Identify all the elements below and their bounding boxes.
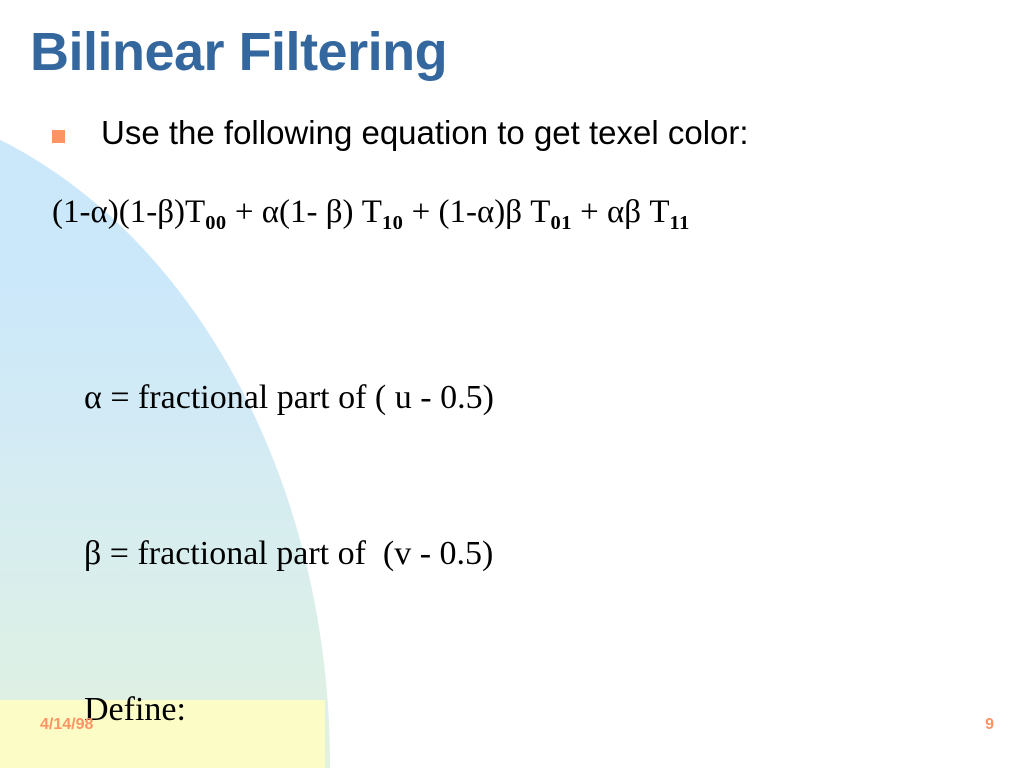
equation-term-4: + αβ T11 — [572, 194, 690, 230]
main-equation: (1-α)(1-β)T00 + α(1- β) T10 + (1-α)β T01… — [52, 192, 690, 236]
definition-line: β = fractional part of (v - 0.5) — [84, 528, 494, 580]
bullet-item-label: Use the following equation to get texel … — [101, 113, 749, 153]
slide: Bilinear Filtering Use the following equ… — [0, 0, 1024, 768]
equation-subscript-4: 11 — [670, 212, 690, 234]
equation-subscript-1: 00 — [205, 212, 226, 234]
equation-term-1: (1-α)(1-β)T00 — [52, 194, 227, 230]
square-bullet-icon — [52, 130, 65, 143]
footer-page-number: 9 — [985, 716, 994, 734]
equation-subscript-3: 01 — [550, 212, 571, 234]
page-title: Bilinear Filtering — [30, 22, 447, 82]
equation-term-2: + α(1- β) T10 — [227, 194, 404, 230]
definition-block: α = fractional part of ( u - 0.5) β = fr… — [84, 268, 494, 768]
footer-date: 4/14/98 — [40, 716, 93, 734]
definition-line: Define: — [84, 684, 494, 736]
definition-line: α = fractional part of ( u - 0.5) — [84, 372, 494, 424]
bullet-item: Use the following equation to get texel … — [52, 113, 749, 153]
equation-term-3: + (1-α)β T01 — [403, 194, 572, 230]
equation-subscript-2: 10 — [382, 212, 403, 234]
